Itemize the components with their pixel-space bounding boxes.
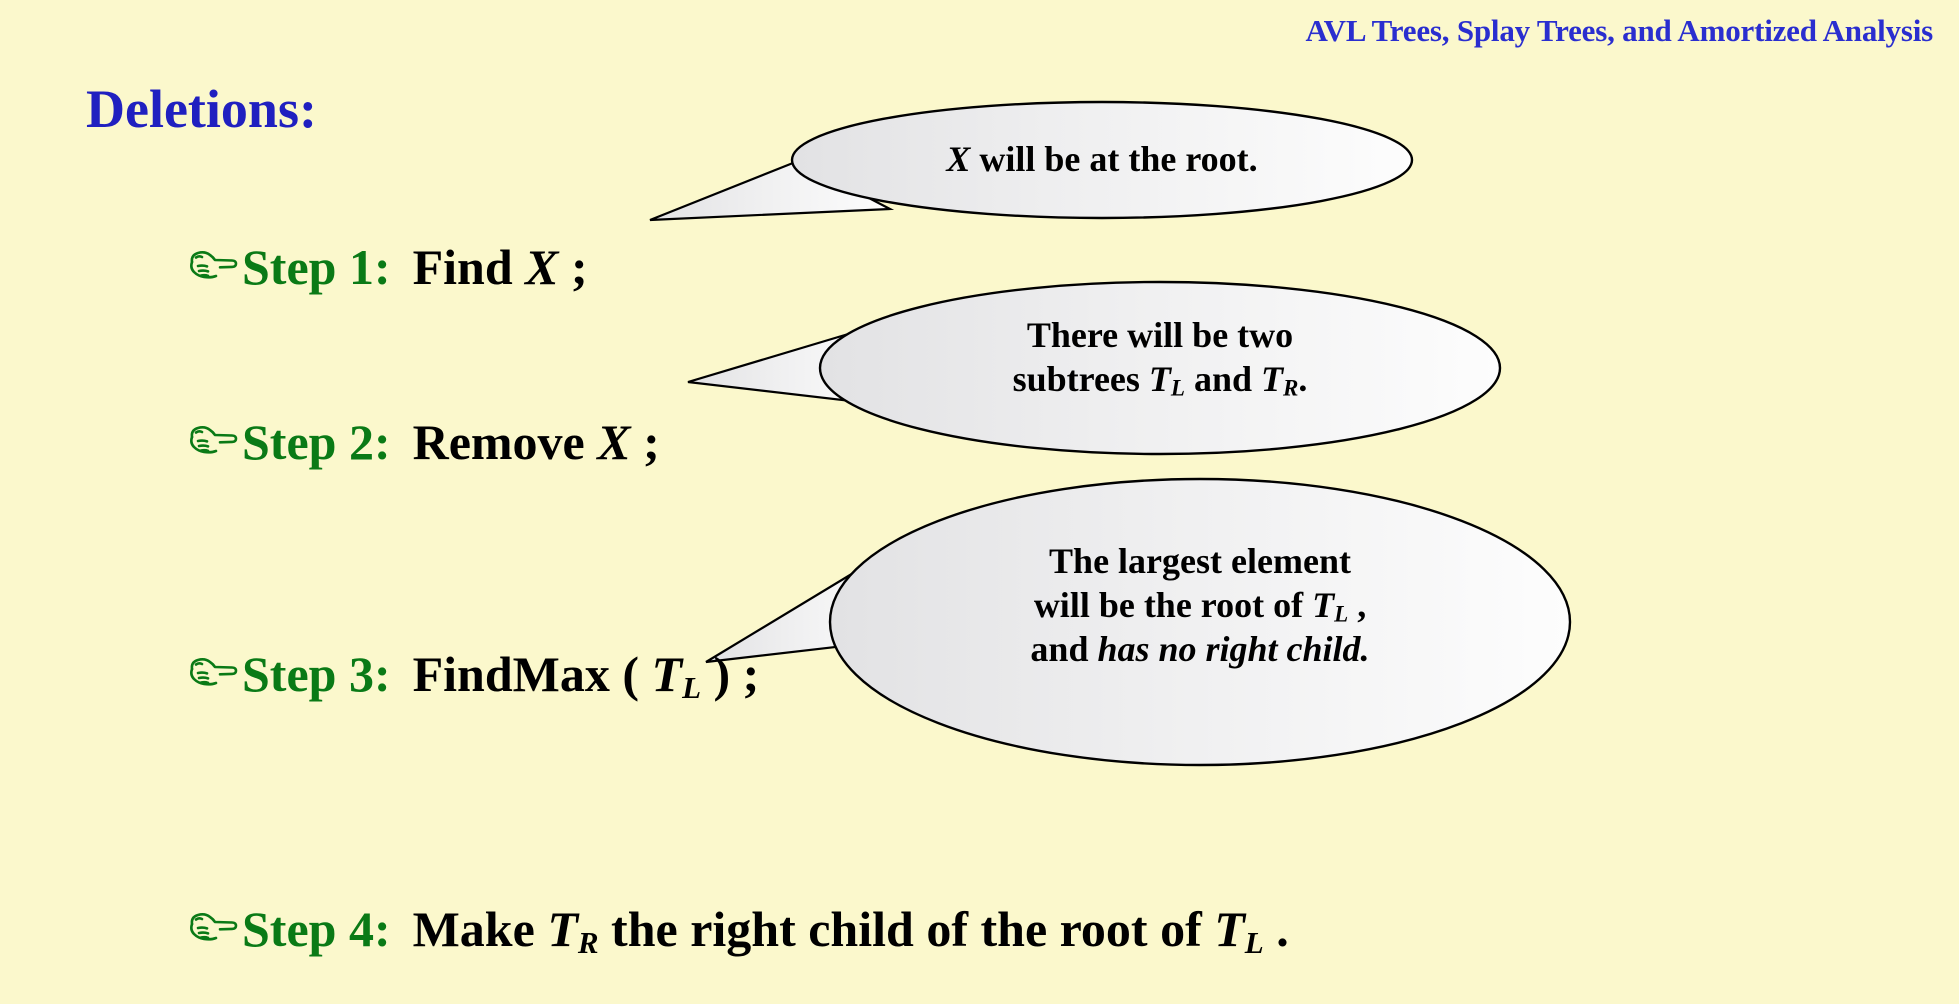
callout2-var-tr-sub: R bbox=[1283, 375, 1298, 401]
step-4-var-tl-sub: L bbox=[1245, 925, 1264, 960]
step-3-text-after: ) ; bbox=[714, 646, 760, 702]
step-4-var-tl: TL bbox=[1214, 901, 1263, 957]
step-4-var-tl-base: T bbox=[1214, 901, 1245, 957]
callout3-line2: will be the root of TL , bbox=[910, 584, 1490, 628]
step-1-text: Find X ; bbox=[413, 238, 588, 296]
callout3-var-tl: TL bbox=[1312, 585, 1348, 625]
step-2-label: Step 2: bbox=[242, 413, 391, 471]
step-2-text-before: Remove bbox=[413, 414, 585, 470]
callout-step3-text: The largest element will be the root of … bbox=[910, 540, 1490, 672]
callout2-var-tl-sub: L bbox=[1171, 375, 1185, 401]
step-2-text-after: ; bbox=[643, 414, 660, 470]
step-4-text: Make TR the right child of the root of T… bbox=[413, 900, 1289, 961]
callout2-var-tr-base: T bbox=[1261, 359, 1283, 399]
callout2-var-tl-base: T bbox=[1149, 359, 1171, 399]
callout1-post: will be at the root. bbox=[970, 139, 1257, 179]
callout-step1: X will be at the root. bbox=[640, 92, 1430, 227]
step-3-var-base: T bbox=[652, 646, 683, 702]
callout2-var-tr: TR bbox=[1261, 359, 1298, 399]
step-row-2: Step 2: Remove X ; bbox=[186, 413, 660, 471]
callout2-line2-end: . bbox=[1298, 359, 1307, 399]
callout3-line2-end: , bbox=[1348, 585, 1366, 625]
step-row-1: Step 1: Find X ; bbox=[186, 238, 588, 296]
step-4-text-mid: the right child of the root of bbox=[611, 901, 1202, 957]
callout3-var-tl-base: T bbox=[1312, 585, 1334, 625]
pointing-hand-icon bbox=[186, 248, 242, 282]
step-1-text-before: Find bbox=[413, 239, 513, 295]
step-1-text-after: ; bbox=[571, 239, 588, 295]
step-3-var-sub: L bbox=[682, 670, 701, 705]
step-2-text: Remove X ; bbox=[413, 413, 660, 471]
step-4-label: Step 4: bbox=[242, 900, 391, 958]
callout2-var-tl: TL bbox=[1149, 359, 1185, 399]
callout-step3: The largest element will be the root of … bbox=[700, 462, 1580, 782]
step-3-text: FindMax ( TL ) ; bbox=[413, 645, 760, 706]
callout3-line3-italic: has no right child. bbox=[1097, 629, 1369, 669]
step-1-label: Step 1: bbox=[242, 238, 391, 296]
pointing-hand-icon bbox=[186, 910, 242, 944]
step-3-var: TL bbox=[652, 646, 701, 702]
slide-canvas: AVL Trees, Splay Trees, and Amortized An… bbox=[0, 0, 1959, 1004]
page-title: Deletions: bbox=[86, 78, 317, 140]
callout-step2: There will be two subtrees TL and TR. bbox=[680, 272, 1510, 462]
callout2-line2: subtrees TL and TR. bbox=[880, 358, 1440, 402]
callout3-line2-pre: will be the root of bbox=[1034, 585, 1312, 625]
slide-header-title: AVL Trees, Splay Trees, and Amortized An… bbox=[1305, 13, 1933, 49]
callout3-line1: The largest element bbox=[910, 540, 1490, 584]
callout3-line1-text: The largest element bbox=[1049, 541, 1351, 581]
step-row-3: Step 3: FindMax ( TL ) ; bbox=[186, 645, 759, 706]
callout-step1-text: X will be at the root. bbox=[832, 138, 1372, 182]
callout3-line3: and has no right child. bbox=[910, 628, 1490, 672]
step-4-text-after: . bbox=[1276, 901, 1289, 957]
callout3-line3-pre: and bbox=[1030, 629, 1097, 669]
step-3-label: Step 3: bbox=[242, 645, 391, 703]
step-4-var-tr: TR bbox=[547, 901, 598, 957]
callout1-var: X bbox=[946, 139, 970, 179]
step-3-text-before: FindMax ( bbox=[413, 646, 639, 702]
pointing-hand-icon bbox=[186, 423, 242, 457]
step-row-4: Step 4: Make TR the right child of the r… bbox=[186, 900, 1289, 961]
callout2-line2-mid: and bbox=[1185, 359, 1261, 399]
callout2-line1: There will be two bbox=[880, 314, 1440, 358]
step-4-var-tr-sub: R bbox=[578, 925, 599, 960]
step-2-var: X bbox=[597, 414, 630, 470]
callout2-line2-pre: subtrees bbox=[1013, 359, 1149, 399]
callout3-var-tl-sub: L bbox=[1334, 601, 1348, 627]
callout-step2-text: There will be two subtrees TL and TR. bbox=[880, 314, 1440, 402]
pointing-hand-icon bbox=[186, 655, 242, 689]
callout2-line1-text: There will be two bbox=[1027, 315, 1293, 355]
step-1-var: X bbox=[525, 239, 558, 295]
step-4-var-tr-base: T bbox=[547, 901, 578, 957]
step-4-text-before: Make bbox=[413, 901, 535, 957]
